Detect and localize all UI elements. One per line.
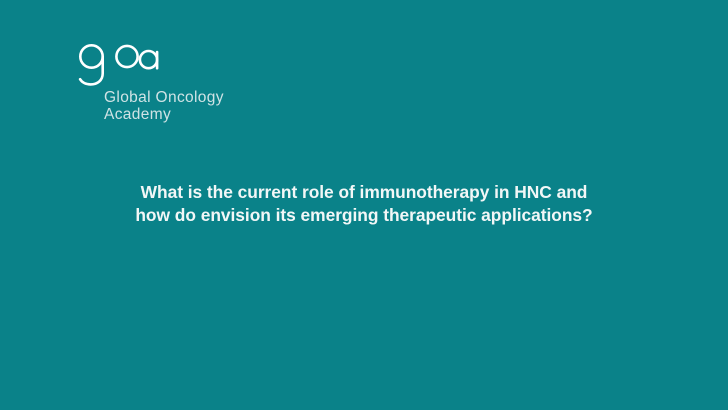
slide-canvas: Global Oncology Academy What is the curr… xyxy=(0,0,728,410)
organization-name: Global Oncology Academy xyxy=(78,90,308,123)
page-title: What is the current role of immunotherap… xyxy=(0,181,728,226)
headline-line-1: What is the current role of immunotherap… xyxy=(0,181,728,204)
goa-logomark-icon xyxy=(78,40,166,86)
headline-line-2: how do envision its emerging therapeutic… xyxy=(0,204,728,227)
brand-logo: Global Oncology Academy xyxy=(78,40,308,123)
